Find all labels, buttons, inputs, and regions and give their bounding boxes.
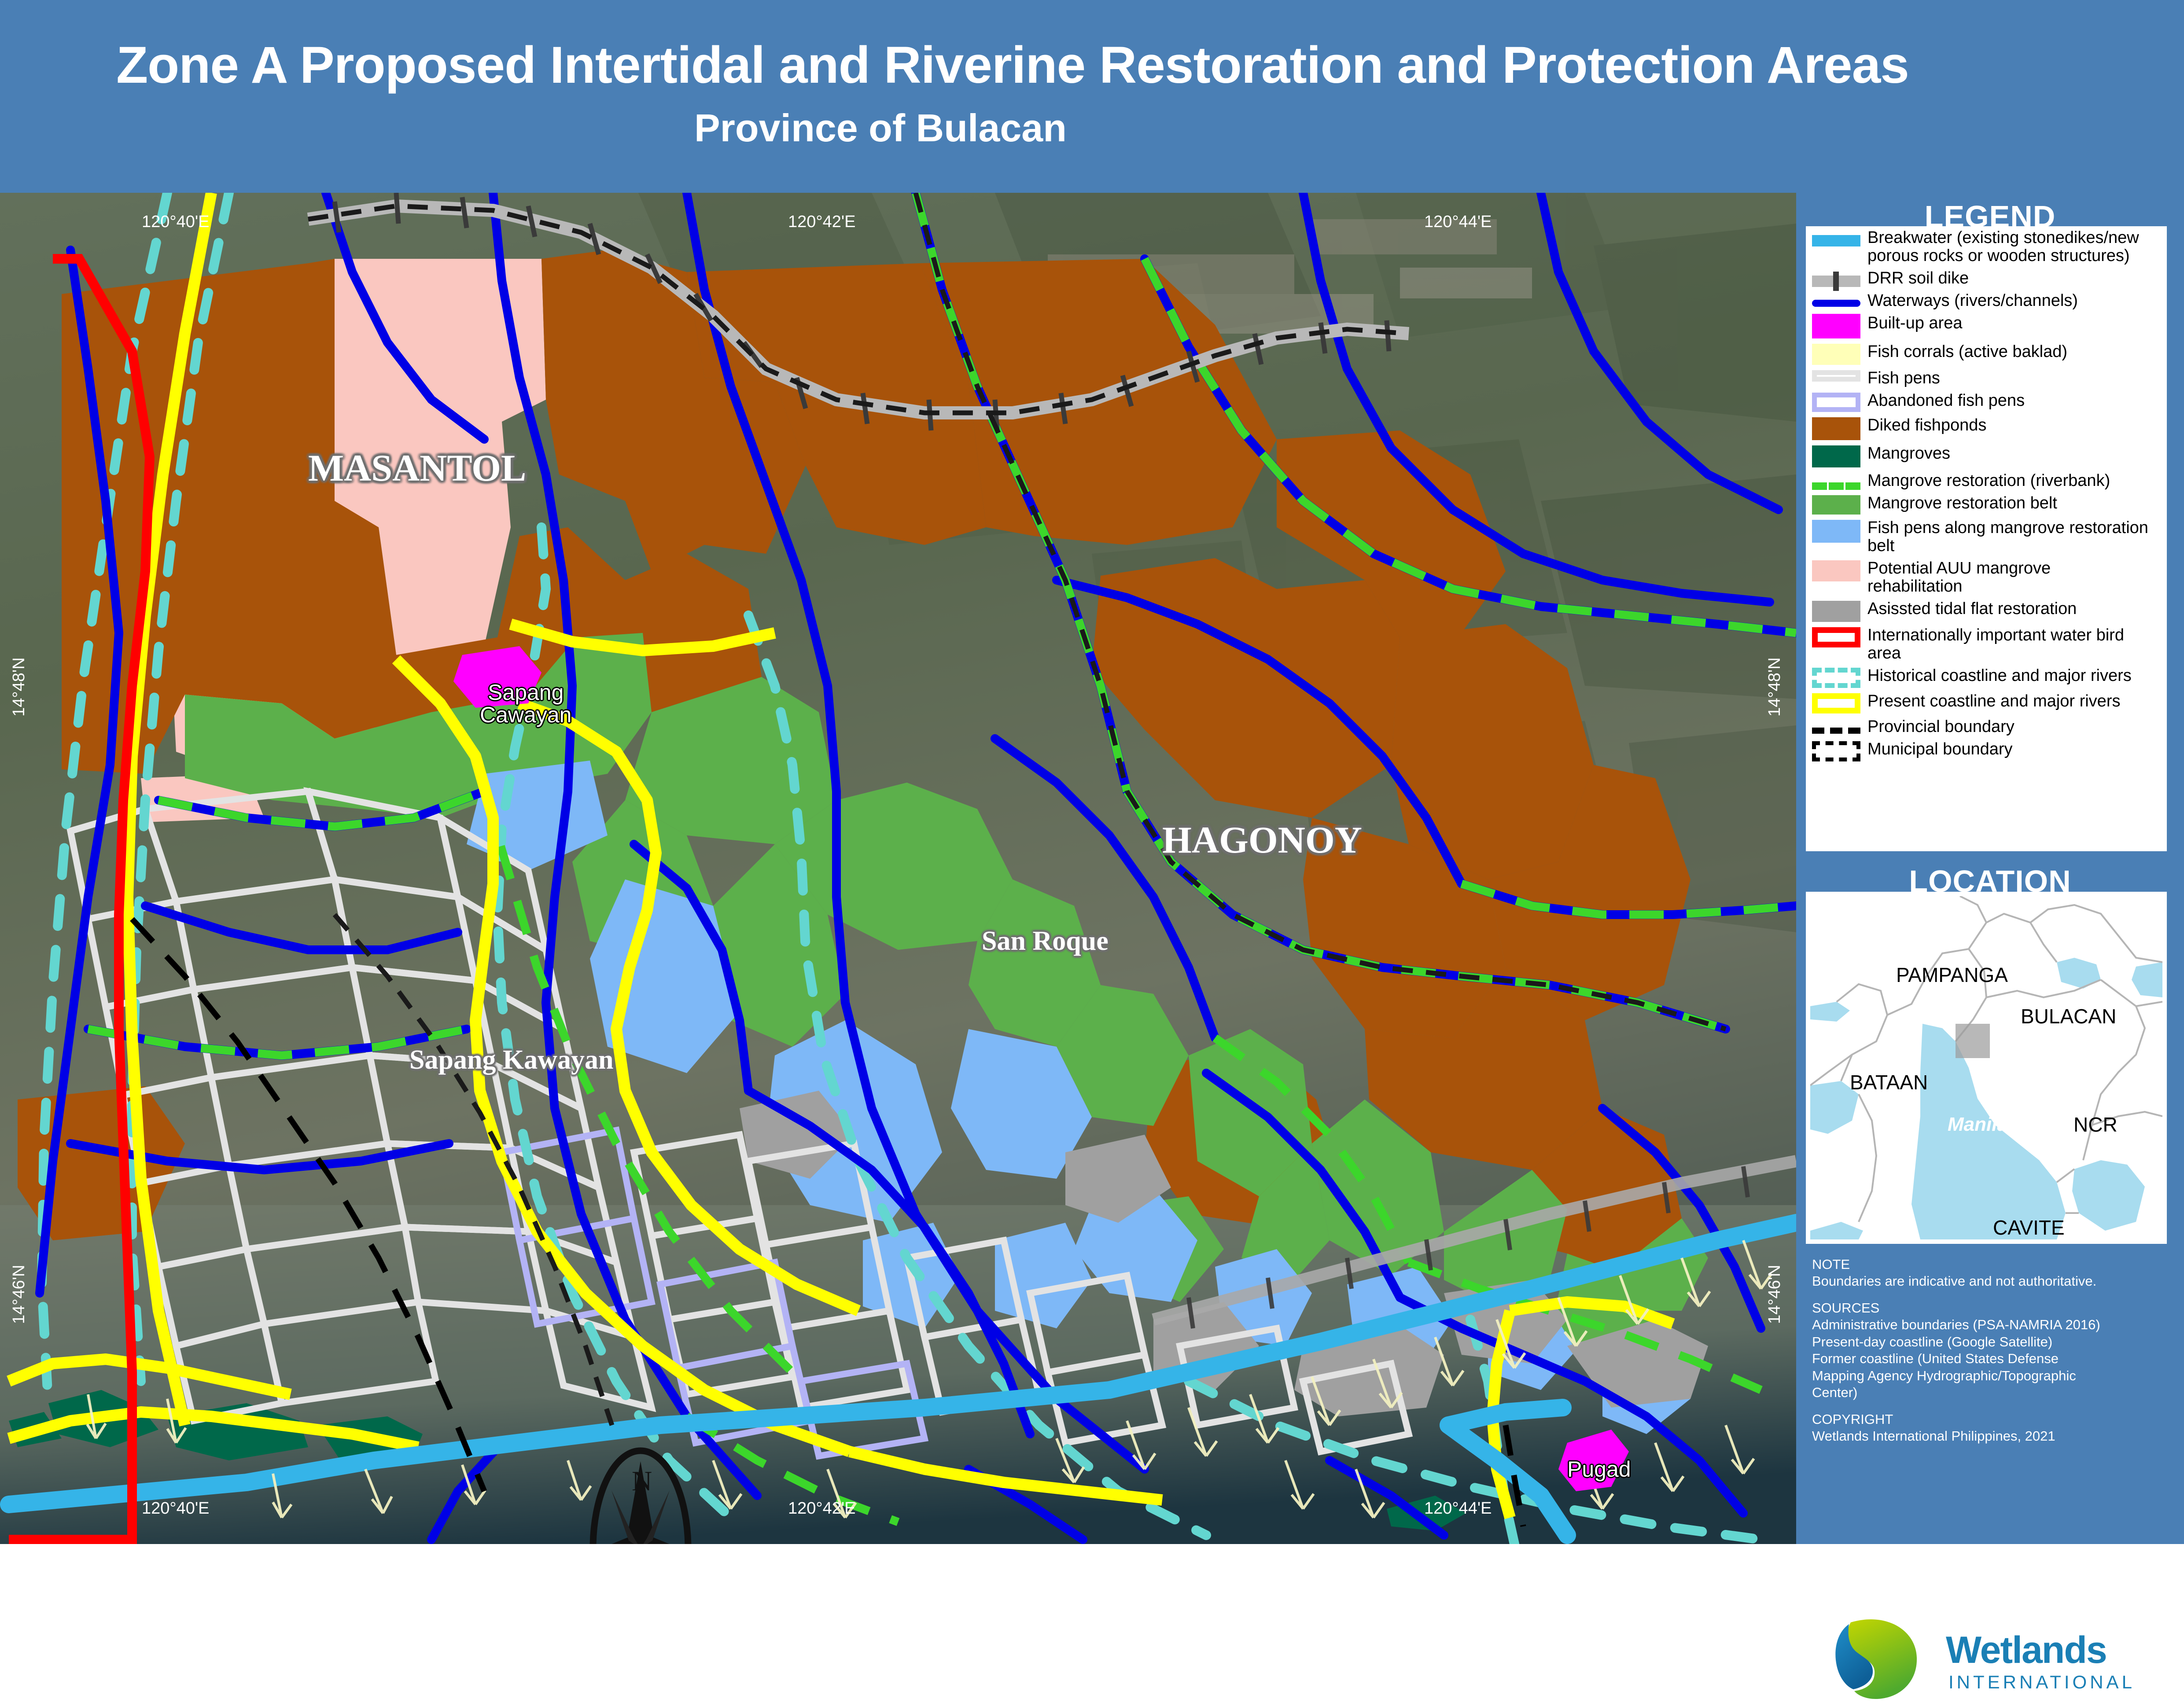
legend-item-fish-pens[interactable]: Fish pens	[1806, 367, 2167, 389]
legend-label: Fish corrals (active baklad)	[1867, 342, 2067, 361]
built-up-swatch-icon	[1812, 314, 1860, 338]
legend-item-municipal-boundary[interactable]: Municipal boundary	[1806, 738, 2167, 763]
historical-coastline-swatch-icon	[1812, 668, 1860, 688]
sources-heading: SOURCES	[1812, 1300, 2147, 1316]
legend-label: Asissted tidal flat restoration	[1867, 599, 2077, 618]
legend-item-diked-fishponds[interactable]: Diked fishponds	[1806, 414, 2167, 442]
location-label-manila-bay: Manila Bay	[1948, 1114, 2049, 1136]
legend-item-tidal-flat-restoration[interactable]: Asissted tidal flat restoration	[1806, 597, 2167, 624]
legend-label: Historical coastline and major rivers	[1867, 666, 2132, 685]
legend-item-present-coastline[interactable]: Present coastline and major rivers	[1806, 690, 2167, 715]
municipal-boundary-swatch-icon	[1812, 741, 1860, 761]
present-coastline-swatch-icon	[1812, 693, 1860, 713]
legend-item-fish-corrals[interactable]: Fish corrals (active baklad)	[1806, 340, 2167, 367]
legend-label: Internationally important water bird are…	[1867, 625, 2149, 662]
location-inset-map[interactable]: PAMPANGA BULACAN BATAAN NCR CAVITE Manil…	[1806, 892, 2167, 1244]
location-label-ncr: NCR	[2074, 1113, 2118, 1136]
legend-item-abandoned-fish-pens[interactable]: Abandoned fish pens	[1806, 389, 2167, 414]
logo-wordmark: Wetlands	[1946, 1629, 2107, 1672]
page-title: Zone A Proposed Intertidal and Riverine …	[0, 35, 2025, 95]
tidal-flat-swatch-icon	[1812, 601, 1860, 622]
legend-label: Potential AUU mangrove rehabilitation	[1867, 559, 2149, 596]
auu-swatch-icon	[1812, 560, 1860, 581]
location-label-pampanga: PAMPANGA	[1896, 963, 2008, 987]
source-line: Mapping Agency Hydrographic/Topographic	[1812, 1368, 2147, 1384]
legend-item-built-up-area[interactable]: Built-up area	[1806, 312, 2167, 340]
waterway-swatch-icon	[1812, 300, 1860, 307]
legend-item-mangrove-restoration-belt[interactable]: Mangrove restoration belt	[1806, 492, 2167, 516]
source-line: Center)	[1812, 1384, 2147, 1401]
iwba-swatch-icon	[1812, 627, 1860, 647]
mangroves-swatch-icon	[1812, 445, 1860, 467]
legend-item-fish-pens-along-belt[interactable]: Fish pens along mangrove restoration bel…	[1806, 516, 2167, 557]
legend-label: Municipal boundary	[1867, 739, 2013, 758]
fish-pens-belt-swatch-icon	[1812, 520, 1860, 543]
side-panel: LEGEND Breakwater (existing stonedikes/n…	[1796, 193, 2184, 1544]
copyright-text: Wetlands International Philippines, 2021	[1812, 1428, 2147, 1445]
wetlands-international-logo: Wetlands INTERNATIONAL	[1814, 1612, 2162, 1706]
location-label-bataan: BATAAN	[1850, 1070, 1928, 1094]
legend-item-iwba[interactable]: Internationally important water bird are…	[1806, 624, 2167, 664]
source-line: Administrative boundaries (PSA-NAMRIA 20…	[1812, 1316, 2147, 1333]
legend-item-provincial-boundary[interactable]: Provincial boundary	[1806, 715, 2167, 738]
copyright-heading: COPYRIGHT	[1812, 1411, 2147, 1428]
legend-item-mangroves[interactable]: Mangroves	[1806, 442, 2167, 469]
legend-label: Fish pens	[1867, 368, 1940, 387]
page-subtitle: Province of Bulacan	[0, 106, 1761, 151]
main-map[interactable]: N S W E MASANTOL HAGONOY San Roque Sapan…	[0, 193, 1796, 1544]
source-line: Former coastline (United States Defense	[1812, 1350, 2147, 1367]
notes-block: NOTE Boundaries are indicative and not a…	[1812, 1256, 2147, 1445]
legend-panel: Breakwater (existing stonedikes/new poro…	[1806, 226, 2167, 851]
legend-label: Mangrove restoration belt	[1867, 493, 2057, 512]
title-banner: Zone A Proposed Intertidal and Riverine …	[0, 0, 2184, 193]
legend-label: Fish pens along mangrove restoration bel…	[1867, 518, 2149, 555]
legend-label: Mangroves	[1867, 444, 1950, 463]
legend-label: Mangrove restoration (riverbank)	[1867, 471, 2110, 490]
legend-item-potential-auu[interactable]: Potential AUU mangrove rehabilitation	[1806, 557, 2167, 597]
note-heading: NOTE	[1812, 1256, 2147, 1273]
legend-label: Built-up area	[1867, 313, 1962, 332]
wetlands-leaf-icon	[1830, 1615, 1940, 1703]
mangrove-restoration-swatch-icon	[1812, 482, 1860, 490]
drr-dike-swatch-icon	[1812, 276, 1860, 287]
location-label-bulacan: BULACAN	[2021, 1004, 2116, 1028]
legend-label: Present coastline and major rivers	[1867, 691, 2120, 710]
legend-label: Provincial boundary	[1867, 717, 2015, 736]
mangrove-belt-swatch-icon	[1812, 495, 1860, 515]
legend-item-historical-coastline[interactable]: Historical coastline and major rivers	[1806, 664, 2167, 690]
logo-subtitle: INTERNATIONAL	[1948, 1672, 2135, 1693]
legend-label: Abandoned fish pens	[1867, 391, 2025, 410]
legend-label: Waterways (rivers/channels)	[1867, 291, 2078, 310]
breakwater-swatch-icon	[1812, 235, 1860, 246]
map-poster: Zone A Proposed Intertidal and Riverine …	[0, 0, 2184, 1544]
fish-pens-swatch-icon	[1812, 370, 1860, 382]
abandoned-fish-pens-swatch-icon	[1812, 393, 1860, 412]
legend-item-mangrove-restoration-riverbank[interactable]: Mangrove restoration (riverbank)	[1806, 469, 2167, 492]
source-line: Present-day coastline (Google Satellite)	[1812, 1334, 2147, 1350]
legend-label: Breakwater (existing stonedikes/new poro…	[1867, 228, 2149, 265]
location-map-graphic	[1810, 896, 2162, 1239]
map-graphic	[0, 193, 1796, 1544]
fish-corral-swatch-icon	[1812, 344, 1860, 365]
legend-item-waterways[interactable]: Waterways (rivers/channels)	[1806, 289, 2167, 312]
provincial-boundary-swatch-icon	[1812, 728, 1860, 734]
legend-item-breakwater[interactable]: Breakwater (existing stonedikes/new poro…	[1806, 226, 2167, 267]
location-label-cavite: CAVITE	[1993, 1216, 2065, 1239]
diked-fishponds-swatch-icon	[1812, 417, 1860, 440]
legend-label: DRR soil dike	[1867, 268, 1969, 287]
legend-item-drr-soil-dike[interactable]: DRR soil dike	[1806, 267, 2167, 289]
legend-label: Diked fishponds	[1867, 415, 1986, 434]
note-text: Boundaries are indicative and not author…	[1812, 1273, 2147, 1290]
